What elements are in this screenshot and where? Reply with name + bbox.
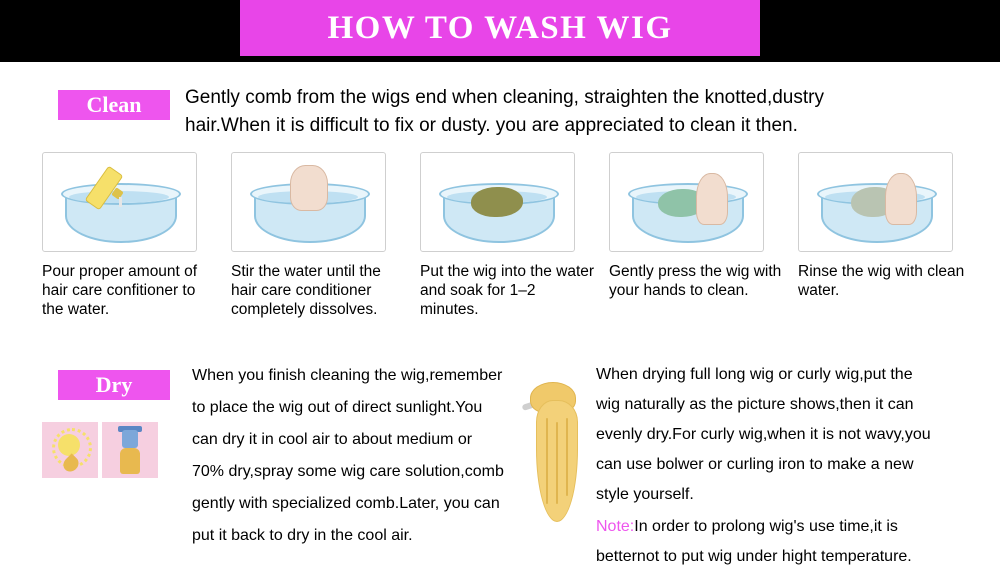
dry-right-line-1: When drying full long wig or curly wig,p… <box>596 360 988 390</box>
hair-dryer-icon <box>102 422 158 478</box>
sun-drying-icon <box>42 422 98 478</box>
clean-label-text: Clean <box>87 92 142 118</box>
dry-left-line-6: put it back to dry in the cool air. <box>192 520 542 552</box>
note-text-1: In order to prolong wig's use time,it is <box>634 518 898 535</box>
header-title-box: HOW TO WASH WIG <box>240 0 760 56</box>
bowl-with-soaking-wig-icon <box>420 152 575 252</box>
note-label: Note: <box>596 518 634 535</box>
dry-left-text: When you finish cleaning the wig,remembe… <box>192 360 542 552</box>
bowl-rinsing-wig-icon <box>798 152 953 252</box>
dry-left-line-5: gently with specialized comb.Later, you … <box>192 488 542 520</box>
dry-left-line-3: can dry it in cool air to about medium o… <box>192 424 542 456</box>
dry-right-line-3: evenly dry.For curly wig,when it is not … <box>596 420 988 450</box>
dry-left-line-2: to place the wig out of direct sunlight.… <box>192 392 542 424</box>
dry-note-line-1: Note:In order to prolong wig's use time,… <box>596 512 988 542</box>
bowl-with-pressing-hands-icon <box>609 152 764 252</box>
wig-hanging-illustration-icon <box>512 378 598 538</box>
clean-step-4: Gently press the wig with your hands to … <box>609 152 784 319</box>
clean-steps-row: Pour proper amount of hair care confitio… <box>42 152 992 319</box>
clean-step-2-caption: Stir the water until the hair care condi… <box>231 262 406 319</box>
clean-step-4-caption: Gently press the wig with your hands to … <box>609 262 784 300</box>
poster-root: HOW TO WASH WIG Clean Gently comb from t… <box>0 0 1000 564</box>
clean-section-label: Clean <box>58 90 170 120</box>
dry-section-label: Dry <box>58 370 170 400</box>
page-title: HOW TO WASH WIG <box>328 10 673 47</box>
clean-step-5: Rinse the wig with clean water. <box>798 152 973 319</box>
clean-step-1-caption: Pour proper amount of hair care confitio… <box>42 262 217 319</box>
bowl-with-conditioner-bottle-icon <box>42 152 197 252</box>
clean-intro-line-1: Gently comb from the wigs end when clean… <box>185 84 985 112</box>
clean-step-3-caption: Put the wig into the water and soak for … <box>420 262 595 319</box>
dry-icons-row <box>42 422 158 478</box>
clean-intro-text: Gently comb from the wigs end when clean… <box>185 84 985 140</box>
dry-left-line-4: 70% dry,spray some wig care solution,com… <box>192 456 542 488</box>
dry-left-line-1: When you finish cleaning the wig,remembe… <box>192 360 542 392</box>
dry-right-line-2: wig naturally as the picture shows,then … <box>596 390 988 420</box>
dry-label-text: Dry <box>96 372 133 398</box>
clean-step-5-caption: Rinse the wig with clean water. <box>798 262 973 300</box>
dry-right-text: When drying full long wig or curly wig,p… <box>596 360 988 572</box>
clean-step-2: Stir the water until the hair care condi… <box>231 152 406 319</box>
bowl-with-stirring-hand-icon <box>231 152 386 252</box>
clean-intro-line-2: hair.When it is difficult to fix or dust… <box>185 112 985 140</box>
dry-right-line-5: style yourself. <box>596 480 988 510</box>
clean-step-1: Pour proper amount of hair care confitio… <box>42 152 217 319</box>
dry-right-line-4: can use bolwer or curling iron to make a… <box>596 450 988 480</box>
dry-note-line-2: betternot to put wig under hight tempera… <box>596 542 988 572</box>
clean-step-3: Put the wig into the water and soak for … <box>420 152 595 319</box>
